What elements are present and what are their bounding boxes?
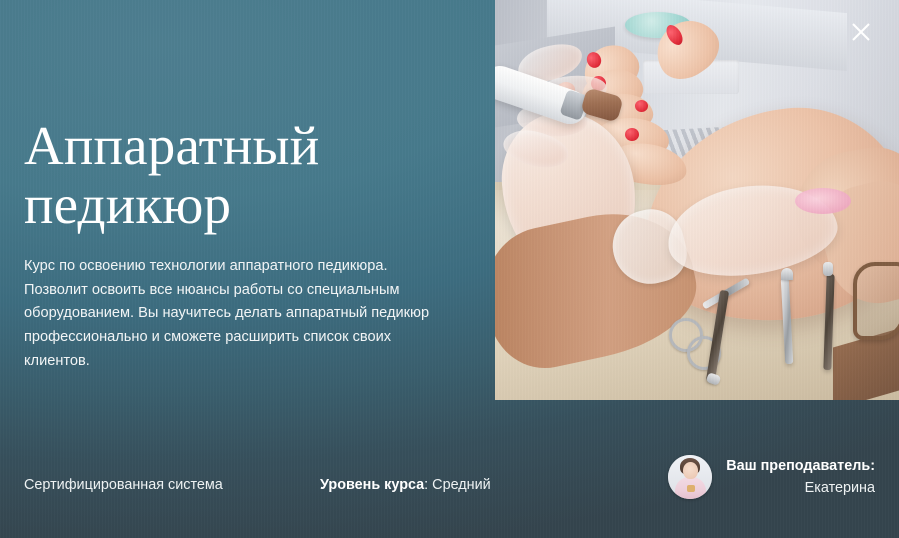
course-level: Уровень курса: Средний bbox=[320, 477, 491, 493]
teacher-text: Ваш преподаватель: Екатерина bbox=[726, 455, 875, 500]
close-button[interactable] bbox=[845, 16, 877, 48]
knife-tip bbox=[823, 262, 833, 276]
red-toenail bbox=[625, 128, 639, 141]
avatar-badge bbox=[687, 485, 695, 492]
teacher-role-label: Ваш преподаватель: bbox=[726, 455, 875, 477]
red-toenail bbox=[635, 100, 648, 112]
cuticle-nippers bbox=[853, 262, 899, 340]
course-level-label: Уровень курса bbox=[320, 477, 424, 493]
course-level-value: Средний bbox=[432, 477, 491, 493]
certification-label: Сертифицированная система bbox=[24, 477, 223, 493]
close-icon bbox=[850, 21, 872, 43]
teacher-info: Ваш преподаватель: Екатерина bbox=[668, 455, 875, 500]
course-level-separator: : bbox=[424, 477, 432, 493]
teacher-name: Екатерина bbox=[726, 477, 875, 499]
course-detail-modal: Аппаратный педикюр Курс по освоению техн… bbox=[0, 0, 899, 538]
avatar bbox=[668, 455, 712, 499]
cleaner-loop bbox=[781, 268, 793, 280]
hero-image bbox=[495, 0, 899, 400]
course-title: Аппаратный педикюр bbox=[24, 116, 454, 235]
fingernails bbox=[795, 188, 851, 214]
course-description: Курс по освоению технологии аппаратного … bbox=[24, 255, 444, 373]
